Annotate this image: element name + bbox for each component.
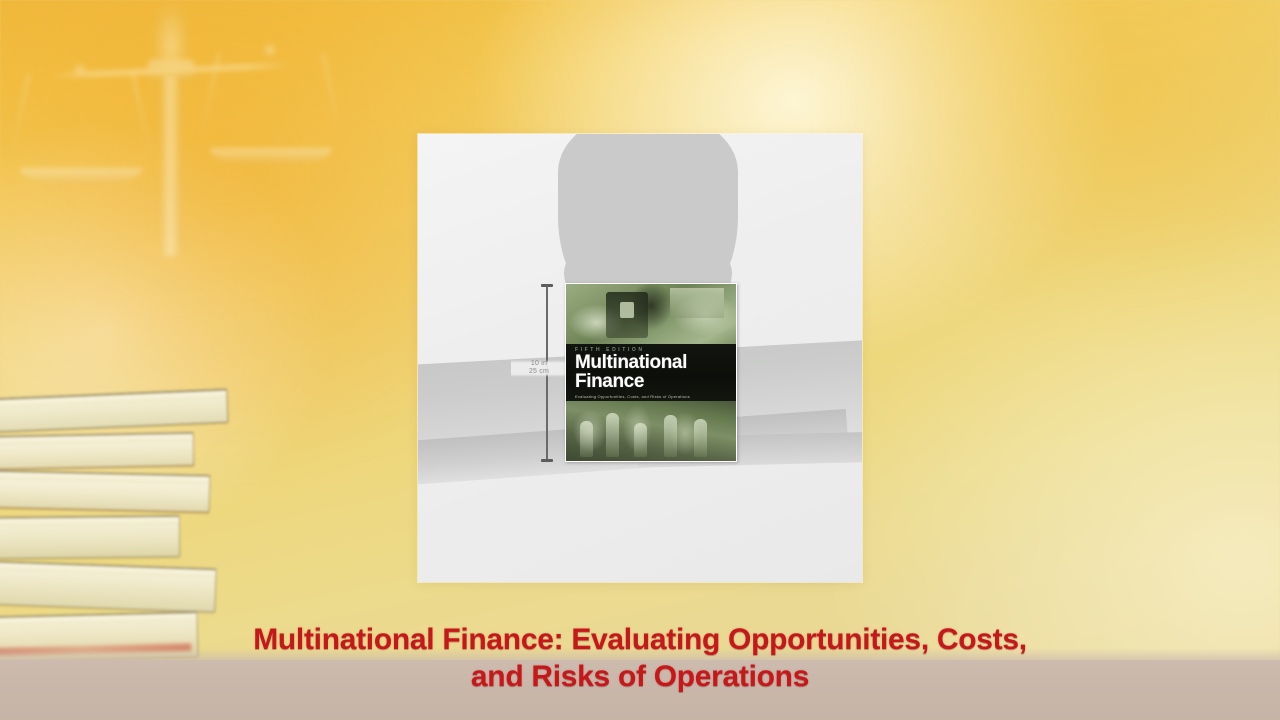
scales-pan-left-hook	[74, 64, 86, 76]
scales-of-justice-icon	[14, 0, 324, 304]
product-image-panel: 10 in 25 cm FIFTH EDITION Multinational …	[418, 134, 862, 582]
title-banner-line-2: and Risks of Operations	[471, 659, 809, 696]
promo-image-stage: 10 in 25 cm FIFTH EDITION Multinational …	[0, 0, 1280, 720]
ruler-label-inches: 10 in	[511, 360, 567, 368]
stacked-book	[0, 560, 217, 613]
cover-title-line-1: Multinational	[575, 354, 727, 372]
stacked-book-top	[0, 561, 216, 579]
title-banner: Multinational Finance: Evaluating Opport…	[0, 618, 1280, 720]
stacked-book	[0, 515, 180, 559]
cover-photo-structure-b	[620, 302, 634, 318]
scales-pan-left-dish	[20, 168, 142, 184]
scales-pan-right	[210, 52, 332, 170]
cover-photo-top	[566, 284, 736, 348]
cover-photo-figure	[580, 421, 593, 457]
background-amber-glow-right	[840, 0, 1280, 310]
cover-photo-structure-c	[670, 288, 724, 318]
scales-pan-left-rope-b	[132, 74, 152, 160]
cover-photo-bottom	[566, 401, 736, 461]
cover-subtitle: Evaluating Opportunities, Costs, and Ris…	[575, 394, 727, 399]
book-cover-thumbnail[interactable]: FIFTH EDITION Multinational Finance Eval…	[565, 283, 737, 462]
scales-column	[160, 76, 182, 256]
stacked-book	[0, 389, 229, 434]
ruler-labels: 10 in 25 cm	[511, 360, 567, 377]
cover-title-band: FIFTH EDITION Multinational Finance Eval…	[566, 344, 736, 406]
cover-photo-figure	[694, 419, 707, 457]
stacked-book-top	[0, 470, 209, 484]
cover-photo-figure	[634, 423, 647, 457]
stacked-book-top	[0, 433, 193, 446]
stacked-book-top	[0, 390, 227, 410]
cover-title-line-2: Finance	[575, 373, 727, 391]
ruler-cap-bottom	[541, 459, 553, 462]
cover-photo-figures	[566, 401, 736, 461]
stacked-book	[0, 469, 210, 513]
scales-pan-left	[20, 72, 142, 190]
dimension-ruler: 10 in 25 cm	[533, 282, 561, 464]
scales-pan-right-dish	[210, 148, 332, 164]
stacked-book	[0, 432, 194, 470]
cover-photo-figure	[606, 413, 619, 457]
ruler-label-centimeters: 25 cm	[511, 368, 567, 376]
title-banner-line-1: Multinational Finance: Evaluating Opport…	[253, 622, 1027, 659]
cover-photo-figure	[664, 415, 677, 457]
scales-pan-right-hook	[264, 44, 276, 56]
stacked-book-top	[0, 516, 179, 527]
